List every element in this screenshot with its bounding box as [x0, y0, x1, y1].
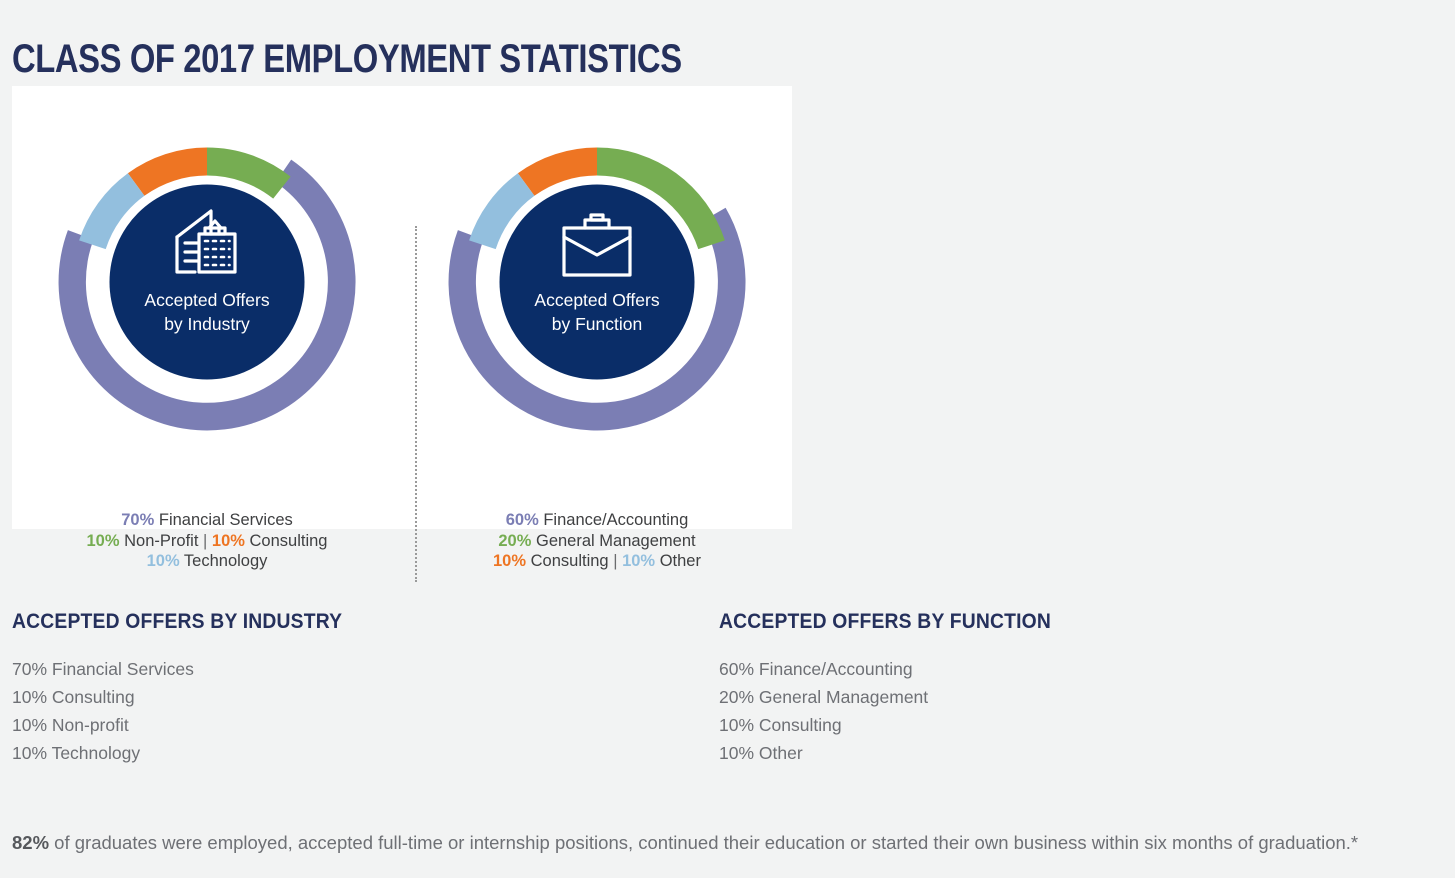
industry-stats-heading: ACCEPTED OFFERS BY INDUSTRY: [12, 610, 342, 634]
legend-pct: 60%: [506, 511, 539, 529]
legend-pct: 10%: [493, 552, 526, 570]
list-item: 60% Finance/Accounting: [719, 655, 1080, 683]
donut-center-line2: by Industry: [164, 314, 250, 334]
donut-chart-function: Accepted Offers by Function 60% Finance/…: [402, 86, 792, 529]
industry-stats-list: 70% Financial Services 10% Consulting 10…: [12, 655, 371, 767]
legend-line: 20% General Management: [402, 531, 792, 552]
list-item: 10% Consulting: [12, 683, 371, 711]
donut-center-line1: Accepted Offers: [144, 290, 269, 310]
legend-label: Financial Services: [159, 511, 293, 529]
legend-separator: |: [613, 552, 617, 570]
legend-line: 60% Finance/Accounting: [402, 510, 792, 531]
function-stats-column: ACCEPTED OFFERS BY FUNCTION 60% Finance/…: [719, 610, 1080, 767]
legend-label: Technology: [184, 552, 267, 570]
function-stats-heading: ACCEPTED OFFERS BY FUNCTION: [719, 610, 1051, 634]
list-item: 20% General Management: [719, 683, 1080, 711]
list-item: 70% Financial Services: [12, 655, 371, 683]
legend-pct: 10%: [147, 552, 180, 570]
page-title: CLASS OF 2017 EMPLOYMENT STATISTICS: [12, 37, 682, 82]
legend-line: 70% Financial Services: [12, 510, 402, 531]
donut-center-line2: by Function: [552, 314, 642, 334]
footnote-bold-lead: 82%: [12, 832, 49, 853]
charts-card: Accepted Offers by Industry 70% Financia…: [12, 86, 792, 529]
industry-stats-column: ACCEPTED OFFERS BY INDUSTRY 70% Financia…: [12, 610, 371, 767]
legend-pct: 70%: [121, 511, 154, 529]
employment-footnote: 82% of graduates were employed, accepted…: [12, 829, 1437, 856]
footnote-rest: of graduates were employed, accepted ful…: [49, 832, 1358, 853]
list-item: 10% Consulting: [719, 711, 1080, 739]
legend-pct: 10%: [87, 532, 120, 550]
list-item: 10% Technology: [12, 739, 371, 767]
legend-pct: 20%: [498, 532, 531, 550]
function-stats-list: 60% Finance/Accounting 20% General Manag…: [719, 655, 1080, 767]
donut-industry-legend: 70% Financial Services 10% Non-Profit | …: [12, 510, 402, 572]
list-item: 10% Other: [719, 739, 1080, 767]
legend-label: Non-Profit: [124, 532, 198, 550]
donut-industry-svg: Accepted Offers by Industry: [27, 86, 387, 496]
legend-line: 10% Consulting | 10% Other: [402, 551, 792, 572]
legend-pct: 10%: [622, 552, 655, 570]
legend-separator: |: [203, 532, 207, 550]
list-item: 10% Non-profit: [12, 711, 371, 739]
legend-label: Other: [660, 552, 701, 570]
donut-function-svg: Accepted Offers by Function: [417, 86, 777, 496]
legend-label: Consulting: [250, 532, 328, 550]
legend-label: Finance/Accounting: [543, 511, 688, 529]
legend-line: 10% Technology: [12, 551, 402, 572]
legend-label: Consulting: [531, 552, 609, 570]
legend-line: 10% Non-Profit | 10% Consulting: [12, 531, 402, 552]
donut-function-legend: 60% Finance/Accounting 20% General Manag…: [402, 510, 792, 572]
legend-pct: 10%: [212, 532, 245, 550]
legend-label: General Management: [536, 532, 696, 550]
donut-chart-industry: Accepted Offers by Industry 70% Financia…: [12, 86, 402, 529]
donut-center-line1: Accepted Offers: [534, 290, 659, 310]
